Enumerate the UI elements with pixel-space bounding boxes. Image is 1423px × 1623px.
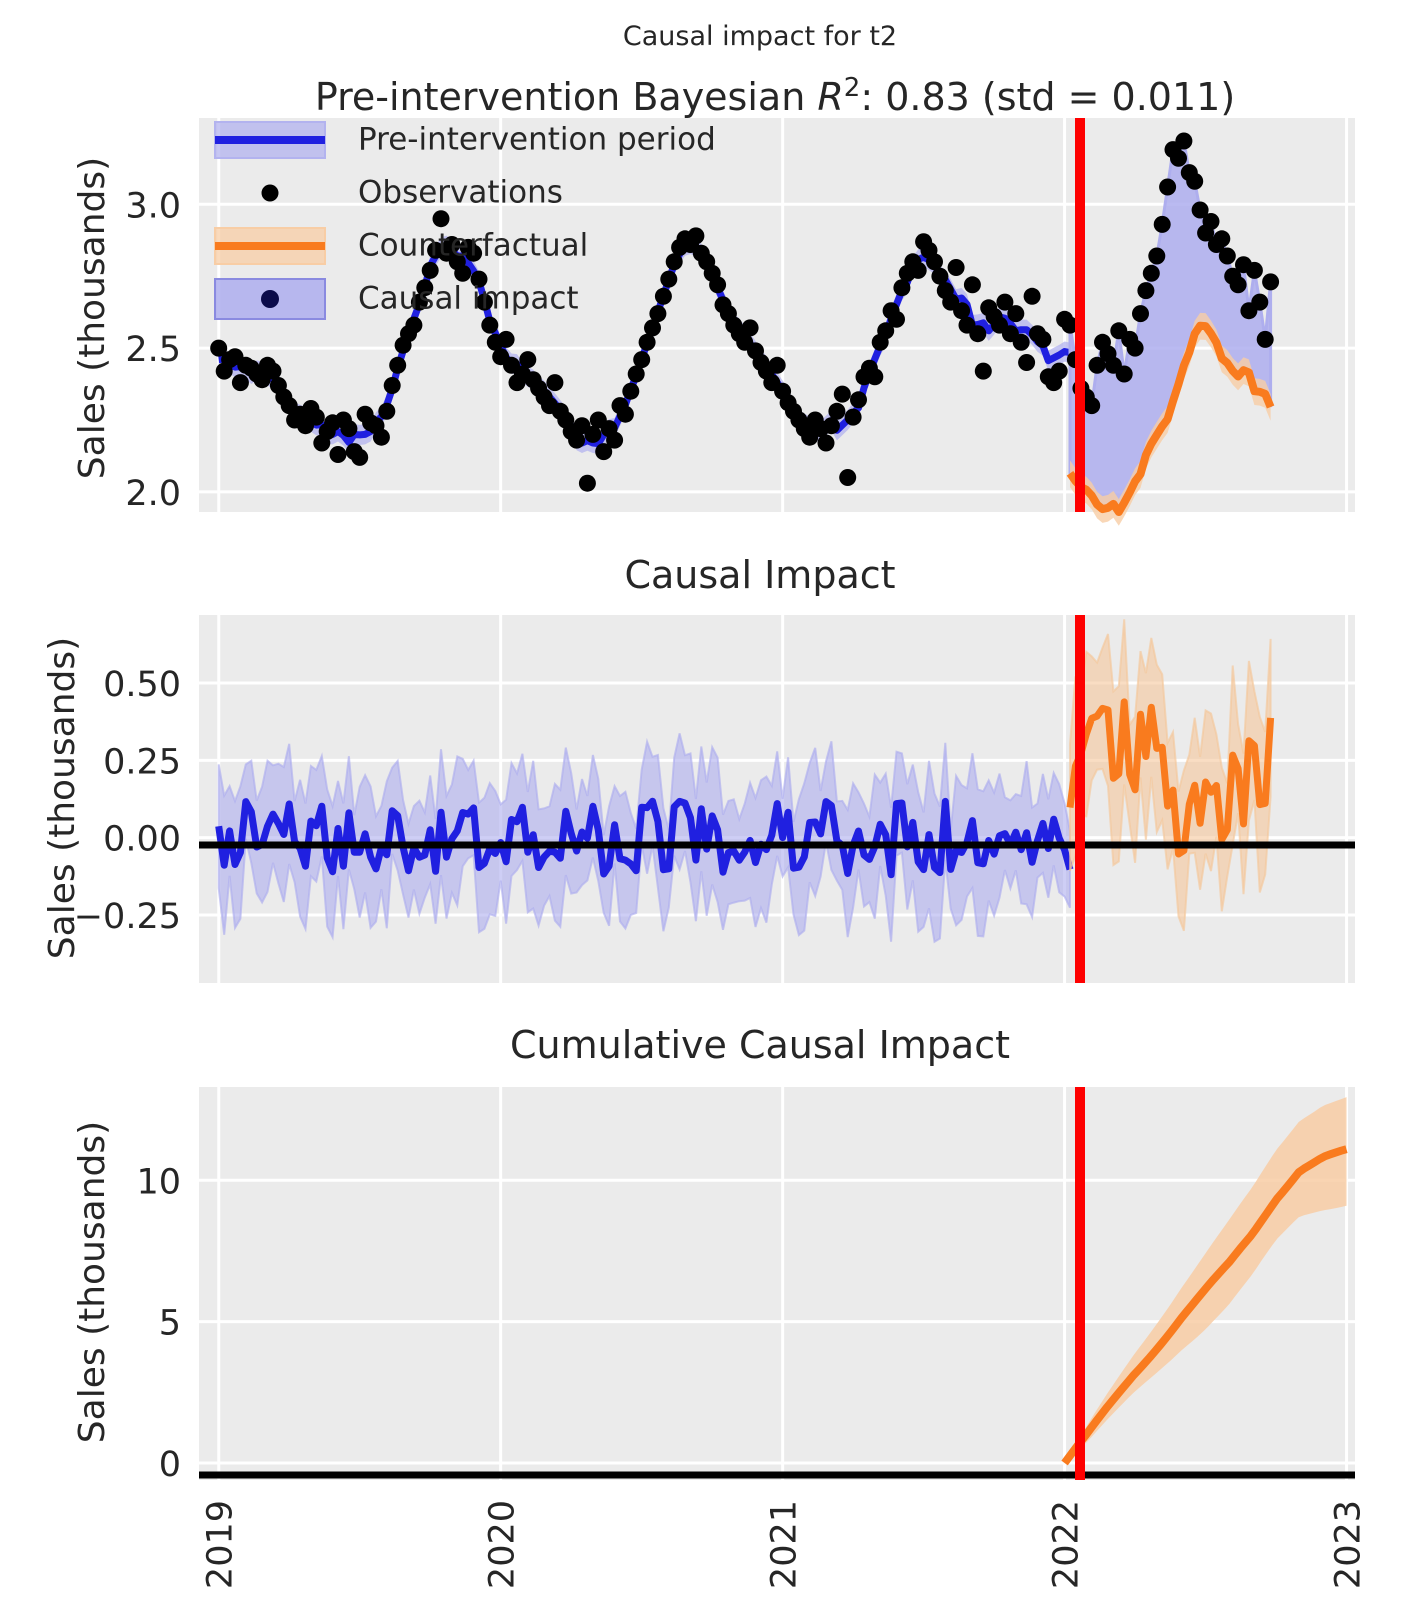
panel-title-cumulative: Cumulative Causal Impact — [510, 1023, 1010, 1067]
ytick-label-causal-impact-1: 0.25 — [103, 742, 181, 782]
xtick-label-2023: 2023 — [1329, 1500, 1369, 1589]
legend-label-3: Causal impact — [358, 281, 579, 317]
ytick-label-observed-1: 2.5 — [125, 330, 181, 370]
legend-item-0[interactable]: Pre-intervention period — [215, 122, 716, 159]
panel-observed: 3.02.52.0 — [125, 118, 1355, 526]
xtick-label-2020: 2020 — [483, 1500, 523, 1589]
xtick-label-2021: 2021 — [765, 1500, 805, 1589]
ytick-label-cumulative-causal-impact-0: 10 — [136, 1162, 181, 1202]
ytick-label-causal-impact-3: −0.25 — [74, 897, 181, 937]
figure-suptitle: Causal impact for t2 — [623, 21, 897, 52]
title-suffix: : 0.83 (std = 0.011) — [860, 75, 1235, 119]
panel-cumulative: 1050 — [136, 1087, 1355, 1485]
ylabel-cumulative: Sales (thousands) — [72, 1121, 113, 1443]
ytick-label-observed-0: 3.0 — [125, 186, 181, 226]
ytick-label-causal-impact-2: 0.00 — [103, 820, 181, 860]
panel-causal-impact: 0.500.250.00−0.25 — [74, 615, 1355, 983]
legend-label-2: Counterfactual — [358, 228, 588, 264]
legend-label-1: Observations — [358, 175, 563, 211]
xtick-label-2019: 2019 — [201, 1500, 241, 1589]
legend-item-3[interactable]: Causal impact — [215, 279, 579, 319]
legend-label-0: Pre-intervention period — [358, 122, 716, 158]
panel-cumulative-background — [199, 1087, 1355, 1480]
ytick-label-observed-2: 2.0 — [125, 474, 181, 514]
title-prefix: Pre-intervention Bayesian — [315, 75, 818, 119]
xtick-label-2022: 2022 — [1047, 1500, 1087, 1589]
ytick-label-cumulative-causal-impact-1: 5 — [159, 1304, 181, 1344]
causal-impact-figure: Causal impact for t2 Pre-intervention Ba… — [0, 0, 1423, 1623]
ytick-label-causal-impact-0: 0.50 — [103, 665, 181, 705]
ytick-label-cumulative-causal-impact-2: 0 — [159, 1445, 181, 1485]
title-math-exp: 2 — [844, 73, 861, 103]
ylabel-observed: Sales (thousands) — [72, 157, 113, 479]
title-math-base: R — [817, 75, 843, 119]
panel-title-observed: Pre-intervention Bayesian R2: 0.83 (std … — [315, 73, 1235, 119]
panel-title-causal-impact: Causal Impact — [624, 553, 895, 597]
legend-item-2[interactable]: Counterfactual — [215, 228, 588, 265]
